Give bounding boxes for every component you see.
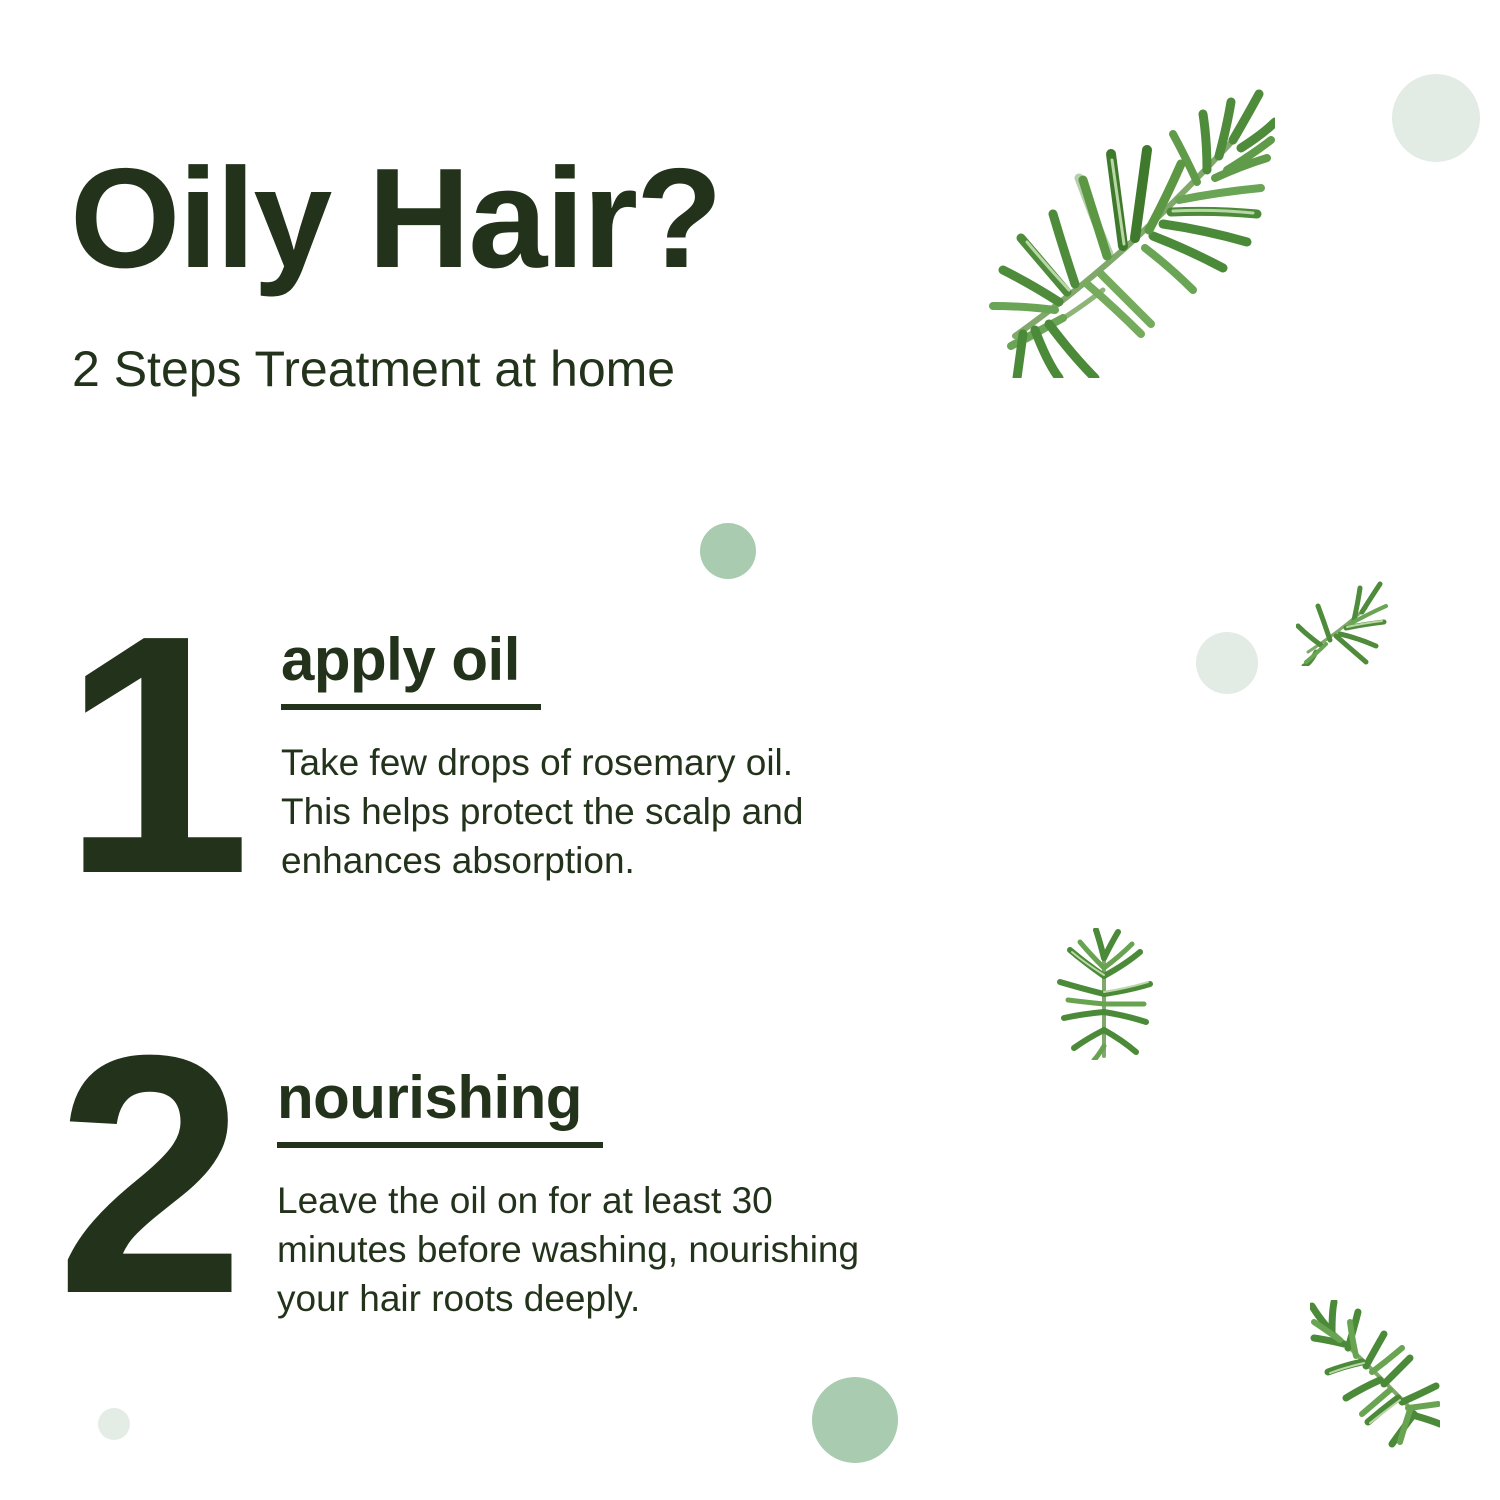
decor-circle-pale-middle-right: [1196, 632, 1258, 694]
step-heading-underline-1: [281, 704, 541, 710]
step-description-line: enhances absorption.: [281, 836, 803, 885]
decor-circle-pale-top-right: [1392, 74, 1480, 162]
rosemary-sprig-main-icon: [975, 78, 1275, 378]
step-description-line: minutes before washing, nourishing: [277, 1225, 859, 1274]
page-title: Oily Hair?: [70, 148, 721, 290]
step-body-1: apply oil Take few drops of rosemary oil…: [281, 630, 803, 886]
step-number-2: 2: [56, 1048, 239, 1303]
step-heading-1: apply oil: [281, 630, 803, 690]
step-description-1: Take few drops of rosemary oil. This hel…: [281, 738, 803, 886]
rosemary-sprig-bottom-right-icon: [1310, 1300, 1440, 1450]
step-body-2: nourishing Leave the oil on for at least…: [277, 1068, 859, 1324]
step-description-2: Leave the oil on for at least 30 minutes…: [277, 1176, 859, 1324]
step-number-1: 1: [62, 628, 245, 883]
step-description-line: This helps protect the scalp and: [281, 787, 803, 836]
step-description-line: your hair roots deeply.: [277, 1274, 859, 1323]
rosemary-sprig-middle-right-icon: [1048, 928, 1158, 1060]
rosemary-sprig-small-right-icon: [1296, 578, 1392, 666]
step-description-line: Leave the oil on for at least 30: [277, 1176, 859, 1225]
decor-circle-sage-middle: [700, 523, 756, 579]
decor-circle-pale-bottom-left: [98, 1408, 130, 1440]
step-description-line: Take few drops of rosemary oil.: [281, 738, 803, 787]
decor-circle-sage-bottom: [812, 1377, 898, 1463]
poster-canvas: Oily Hair? 2 Steps Treatment at home 1 a…: [0, 0, 1500, 1500]
page-subtitle: 2 Steps Treatment at home: [72, 342, 675, 397]
step-heading-2: nourishing: [277, 1068, 859, 1128]
step-heading-underline-2: [277, 1142, 603, 1148]
